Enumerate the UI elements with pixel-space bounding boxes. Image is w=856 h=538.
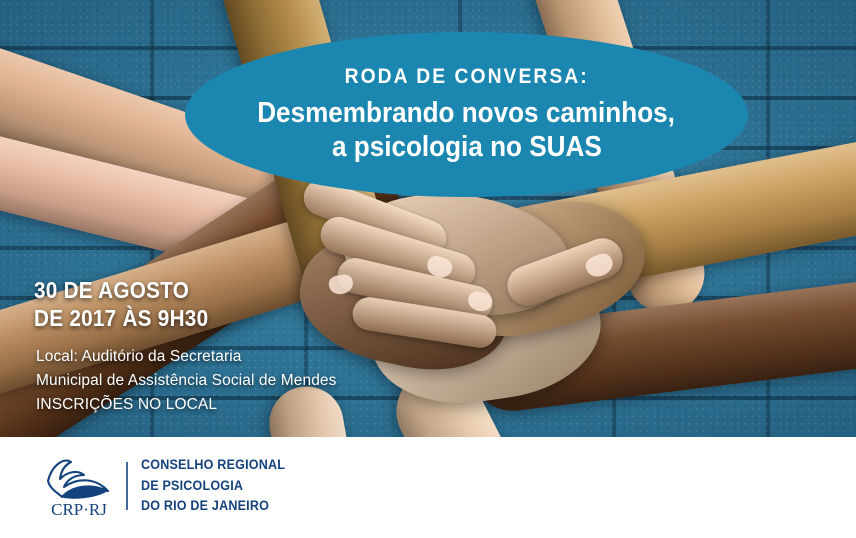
event-poster: RODA DE CONVERSA: Desmembrando novos cam… [0, 0, 856, 538]
org-line-1: CONSELHO REGIONAL [141, 455, 285, 476]
footer-bar: CRP·RJ CONSELHO REGIONAL DE PSICOLOGIA D… [0, 437, 856, 538]
event-date: 30 DE AGOSTO DE 2017 ÀS 9H30 [34, 276, 228, 332]
headline-line-2: a psicologia no SUAS [332, 130, 602, 164]
kicker-text: RODA DE CONVERSA: [344, 65, 588, 89]
registration-note: INSCRIÇÕES NO LOCAL [36, 393, 336, 417]
event-location: Local: Auditório da Secretaria Municipal… [36, 345, 336, 417]
date-line-1: 30 DE AGOSTO [34, 276, 208, 304]
crp-rj-logo: CRP·RJ CONSELHO REGIONAL DE PSICOLOGIA D… [38, 453, 296, 519]
title-block: RODA DE CONVERSA: Desmembrando novos cam… [185, 32, 748, 197]
date-line-2: DE 2017 ÀS 9H30 [34, 304, 208, 332]
org-line-3: DO RIO DE JANEIRO [141, 496, 285, 517]
crp-bird-mark: CRP·RJ [38, 453, 120, 519]
location-line-2: Municipal de Assistência Social de Mende… [36, 369, 336, 393]
crp-wordmark: CRP·RJ [51, 500, 107, 519]
location-line-1: Local: Auditório da Secretaria [36, 345, 336, 369]
headline-line-1: Desmembrando novos caminhos, [258, 96, 676, 130]
organization-name: CONSELHO REGIONAL DE PSICOLOGIA DO RIO D… [141, 455, 285, 517]
org-line-2: DE PSICOLOGIA [141, 476, 285, 497]
logo-divider [126, 462, 128, 510]
